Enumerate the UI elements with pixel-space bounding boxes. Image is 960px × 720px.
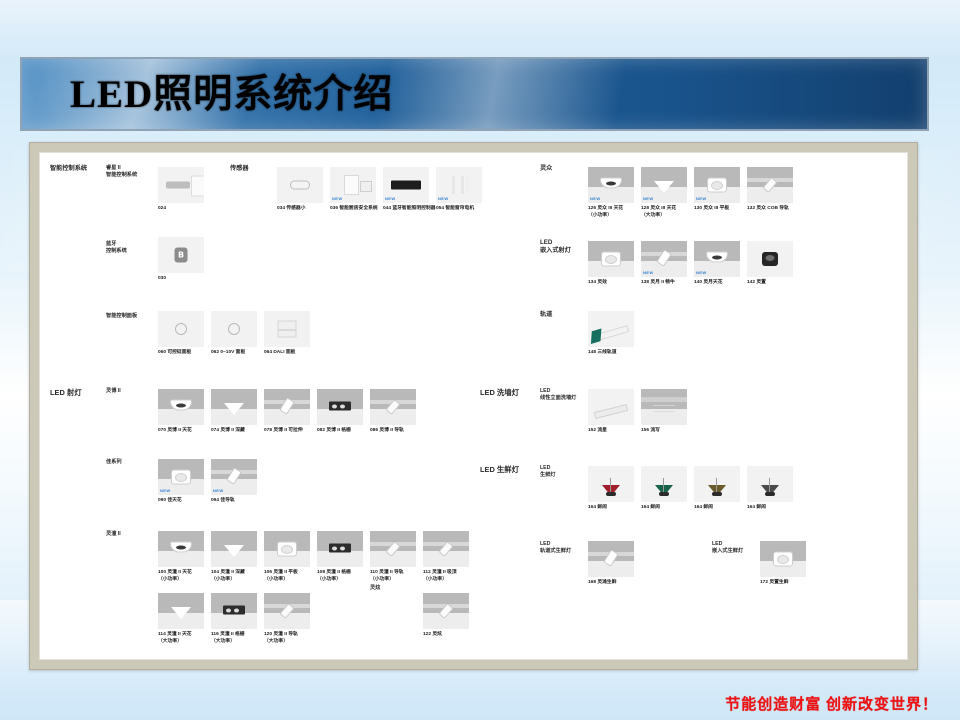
product-thumbnail <box>588 466 634 502</box>
product-label: 114 灵潼 II 天花 （大功率） <box>158 632 204 646</box>
new-badge: NEW <box>696 270 707 275</box>
product-thumbnail <box>423 593 469 629</box>
thumbnail-floor <box>158 551 204 567</box>
ringdown-icon <box>707 178 727 193</box>
product-card[interactable]: 078 灵博 II 可拉伸 <box>264 389 310 435</box>
darkdown-icon <box>762 252 778 266</box>
product-label: 140 灵月天花 <box>694 280 740 287</box>
product-label: 152 流星 <box>588 428 634 435</box>
product-card[interactable]: 164 鲜阅 <box>641 466 687 512</box>
product-card[interactable]: 024 <box>158 167 204 213</box>
kitchen-icon <box>344 175 359 195</box>
product-thumbnail <box>211 311 257 347</box>
product-label: 128 灵众 III 天花 （大功率） <box>641 206 687 220</box>
product-label: 108 灵潼 II 格栅 （小功率） <box>317 570 363 584</box>
group-subtitle: 蓝牙 控制系统 <box>106 241 127 256</box>
knob-icon <box>228 323 240 335</box>
product-thumbnail: NEW <box>588 167 634 203</box>
product-card[interactable]: 086 灵博 II 导轨 <box>370 389 416 435</box>
category-title: 传感器 <box>230 165 249 173</box>
product-label: 070 灵博 II 天花 <box>158 428 204 435</box>
product-thumbnail <box>158 531 204 567</box>
product-card[interactable]: 168 灵滩生鲜 <box>588 541 634 587</box>
product-label: 164 鲜阅 <box>747 505 793 512</box>
product-thumbnail: NEW <box>158 459 204 495</box>
product-card[interactable]: NEW140 灵月天花 <box>694 241 740 287</box>
gateway-icon <box>166 182 190 189</box>
product-label: 094 佳导轨 <box>211 498 257 505</box>
product-thumbnail: NEW <box>211 459 257 495</box>
group-subtitle: 佳系列 <box>106 459 122 466</box>
product-label: 062 0~10V 面板 <box>211 350 257 357</box>
product-label: 126 灵众 III 天花 （小功率） <box>588 206 634 220</box>
category-title: LED 生鲜灯 <box>480 465 519 475</box>
product-label: 034 传感器小 <box>277 206 323 213</box>
product-card[interactable]: 148 三线轨道 <box>588 311 634 357</box>
thumbnail-floor <box>158 409 204 425</box>
catalog-sheet: 智能控制系统睿星 II 智能控制系统024蓝牙 控制系统B030智能控制面板06… <box>39 152 908 660</box>
product-label: 122 灵炫 <box>423 632 469 639</box>
product-card[interactable]: NEW128 灵众 III 天花 （大功率） <box>641 167 687 220</box>
thumbnail-floor <box>211 613 257 629</box>
product-thumbnail <box>747 167 793 203</box>
product-card[interactable]: 082 灵博 II 格栅 <box>317 389 363 435</box>
group-subtitle: LED 生鲜灯 <box>540 465 556 480</box>
sensor-icon <box>290 181 310 190</box>
new-badge: NEW <box>160 488 171 493</box>
product-label: 172 灵置生鲜 <box>760 580 806 587</box>
product-label: 138 灵月 II 畅牛 <box>641 280 687 287</box>
product-label: 110 灵潼 II 导轨 （小功率） <box>370 570 416 584</box>
category-title: 灵众 <box>540 165 552 173</box>
product-card[interactable]: 172 灵置生鲜 <box>760 541 806 587</box>
product-card[interactable]: 100 灵潼 II 天花 （小功率） <box>158 531 204 584</box>
thumbnail-floor <box>641 409 687 425</box>
blackbox-icon <box>391 181 421 190</box>
product-label: 168 灵滩生鲜 <box>588 580 634 587</box>
page-title: LED照明系统介绍 <box>70 75 393 114</box>
trackrail-icon <box>593 325 630 342</box>
product-card[interactable]: B030 <box>158 237 204 283</box>
product-label: 120 灵潼 II 导轨 （大功率） <box>264 632 310 646</box>
product-card[interactable]: 164 鲜阅 <box>588 466 634 512</box>
product-thumbnail <box>588 541 634 577</box>
new-badge: NEW <box>643 270 654 275</box>
product-card[interactable]: 110 灵潼 II 导轨 （小功率） <box>370 531 416 584</box>
product-card[interactable]: 074 灵博 II 深藏 <box>211 389 257 435</box>
thumbnail-floor <box>317 551 363 567</box>
cone-icon <box>171 607 191 619</box>
pendant-cap-icon <box>765 492 775 496</box>
product-card[interactable]: 104 灵潼 II 深藏 （小功率） <box>211 531 257 584</box>
sky-streak-top <box>0 0 960 60</box>
ringdown-icon <box>171 470 191 485</box>
product-thumbnail <box>370 389 416 425</box>
product-card[interactable]: NEW138 灵月 II 畅牛 <box>641 241 687 287</box>
product-thumbnail <box>588 241 634 277</box>
product-label: 156 流写 <box>641 428 687 435</box>
product-card[interactable]: 064 DALI 面板 <box>264 311 310 357</box>
pendant-icon <box>708 485 726 496</box>
product-card[interactable]: 112 灵潼 II 吸顶 （小功率） <box>423 531 469 584</box>
product-card[interactable]: 142 灵置 <box>747 241 793 287</box>
product-thumbnail <box>264 389 310 425</box>
ringdown-icon <box>601 252 621 267</box>
product-label: 036 智能厨房安全系统 <box>330 206 378 213</box>
product-thumbnail <box>277 167 323 203</box>
new-badge: NEW <box>643 196 654 201</box>
catalog-frame: 智能控制系统睿星 II 智能控制系统024蓝牙 控制系统B030智能控制面板06… <box>29 142 918 670</box>
product-card[interactable]: 164 鲜阅 <box>694 466 740 512</box>
group-subtitle: LED 轨道式生鲜灯 <box>540 541 571 556</box>
product-card[interactable]: NEW036 智能厨房安全系统 <box>330 167 378 213</box>
product-label: 090 佳天花 <box>158 498 204 505</box>
new-badge: NEW <box>385 196 396 201</box>
product-thumbnail: NEW <box>694 167 740 203</box>
ringdown-icon <box>277 542 297 557</box>
product-label: 030 <box>158 276 204 283</box>
product-thumbnail <box>641 466 687 502</box>
product-label: 044 蓝牙智能照明控制器 <box>383 206 436 213</box>
product-card[interactable]: 156 流写 <box>641 389 687 435</box>
cone-icon <box>224 403 244 415</box>
product-thumbnail: B <box>158 237 204 273</box>
category-title: 轨道 <box>540 311 552 319</box>
thumbnail-floor <box>317 409 363 425</box>
recessline-icon <box>641 397 687 402</box>
pendant-cap-icon <box>659 492 669 496</box>
product-card[interactable]: 114 灵潼 II 天花 （大功率） <box>158 593 204 646</box>
product-thumbnail: NEW <box>383 167 429 203</box>
product-card[interactable]: 070 灵博 II 天花 <box>158 389 204 435</box>
product-label: 104 灵潼 II 深藏 （小功率） <box>211 570 257 584</box>
product-thumbnail <box>423 531 469 567</box>
knob-icon <box>175 323 187 335</box>
product-thumbnail <box>370 531 416 567</box>
product-label: 148 三线轨道 <box>588 350 634 357</box>
dali-icon <box>278 321 297 338</box>
product-label: 078 灵博 II 可拉伸 <box>264 428 310 435</box>
product-thumbnail <box>747 241 793 277</box>
product-card[interactable]: 122 灵炫 <box>423 593 469 639</box>
product-card[interactable]: 132 灵众 COB 导轨 <box>747 167 793 213</box>
product-card[interactable]: 106 灵潼 II 平板 （小功率） <box>264 531 310 584</box>
title-banner: LED照明系统介绍 <box>20 57 929 131</box>
new-badge: NEW <box>590 196 601 201</box>
product-thumbnail: NEW <box>436 167 482 203</box>
ringdown-icon <box>773 552 793 567</box>
product-thumbnail <box>588 389 634 425</box>
product-card[interactable]: NEW054 智能窗帘电机 <box>436 167 482 213</box>
product-thumbnail <box>760 541 806 577</box>
group-subtitle: 灵博 II <box>106 388 121 395</box>
grille-icon <box>223 605 245 614</box>
product-label: 024 <box>158 206 204 213</box>
bt-icon: B <box>175 248 188 263</box>
product-label: 106 灵潼 II 平板 （小功率） <box>264 570 310 584</box>
cone-icon <box>224 545 244 557</box>
product-label: 164 鲜阅 <box>641 505 687 512</box>
pendant-cap-icon <box>606 492 616 496</box>
product-label: 134 灵效 <box>588 280 634 287</box>
product-label: 064 DALI 面板 <box>264 350 310 357</box>
group-subtitle: 灵潼 II <box>106 531 121 538</box>
product-thumbnail <box>158 167 204 203</box>
product-card[interactable]: NEW126 灵众 III 天花 （小功率） <box>588 167 634 220</box>
grille-icon <box>329 543 351 552</box>
category-title: 智能控制系统 <box>50 165 87 173</box>
product-label: 112 灵潼 II 吸顶 （小功率） <box>423 570 469 584</box>
new-badge: NEW <box>696 196 707 201</box>
product-thumbnail <box>264 593 310 629</box>
product-thumbnail: NEW <box>694 241 740 277</box>
product-label: 132 灵众 COB 导轨 <box>747 206 793 213</box>
grille-icon <box>329 401 351 410</box>
group-subtitle: LED 嵌入式生鲜灯 <box>712 541 743 556</box>
product-label: 100 灵潼 II 天花 （小功率） <box>158 570 204 584</box>
new-badge: NEW <box>213 488 224 493</box>
group-subtitle: 灵炫 <box>370 585 380 592</box>
category-title: LED 射灯 <box>50 388 82 398</box>
product-label: 130 灵众 III 平板 <box>694 206 740 213</box>
pendant-icon <box>602 485 620 496</box>
product-card[interactable]: NEW090 佳天花 <box>158 459 204 505</box>
product-thumbnail <box>264 531 310 567</box>
product-label: 164 鲜阅 <box>588 505 634 512</box>
product-card[interactable]: NEW044 蓝牙智能照明控制器 <box>383 167 436 213</box>
cone-icon <box>654 181 674 193</box>
product-thumbnail: NEW <box>641 167 687 203</box>
product-label: 142 灵置 <box>747 280 793 287</box>
group-subtitle: LED 线性立面洗墙灯 <box>540 388 576 403</box>
category-title: LED 嵌入式射灯 <box>540 239 571 256</box>
product-card[interactable]: 116 灵潼 II 格栅 （大功率） <box>211 593 257 646</box>
product-thumbnail <box>158 389 204 425</box>
product-card[interactable]: NEW094 佳导轨 <box>211 459 257 505</box>
product-card[interactable]: 062 0~10V 面板 <box>211 311 257 357</box>
product-thumbnail <box>317 389 363 425</box>
product-label: 164 鲜阅 <box>694 505 740 512</box>
product-thumbnail <box>158 593 204 629</box>
group-subtitle: 智能控制面板 <box>106 313 137 320</box>
product-thumbnail <box>158 311 204 347</box>
product-thumbnail: NEW <box>641 241 687 277</box>
product-card[interactable]: NEW130 灵众 III 平板 <box>694 167 740 213</box>
product-thumbnail <box>211 389 257 425</box>
pendant-icon <box>655 485 673 496</box>
category-title: LED 洗墙灯 <box>480 388 519 398</box>
product-thumbnail: NEW <box>330 167 376 203</box>
product-card[interactable]: 108 灵潼 II 格栅 （小功率） <box>317 531 363 584</box>
product-thumbnail <box>588 311 634 347</box>
pendant-cap-icon <box>712 492 722 496</box>
product-thumbnail <box>211 593 257 629</box>
product-label: 116 灵潼 II 格栅 （大功率） <box>211 632 257 646</box>
product-label: 060 可控硅面板 <box>158 350 204 357</box>
product-card[interactable]: 060 可控硅面板 <box>158 311 204 357</box>
wallwash-icon <box>594 404 629 419</box>
product-card[interactable]: 164 鲜阅 <box>747 466 793 512</box>
group-subtitle: 睿星 II 智能控制系统 <box>106 165 137 180</box>
product-thumbnail <box>641 389 687 425</box>
product-card[interactable]: 134 灵效 <box>588 241 634 287</box>
product-card[interactable]: 152 流星 <box>588 389 634 435</box>
product-card[interactable]: 120 灵潼 II 导轨 （大功率） <box>264 593 310 646</box>
product-thumbnail <box>264 311 310 347</box>
product-thumbnail <box>317 531 363 567</box>
product-thumbnail <box>211 531 257 567</box>
product-label: 074 灵博 II 深藏 <box>211 428 257 435</box>
product-label: 086 灵博 II 导轨 <box>370 428 416 435</box>
pendant-icon <box>761 485 779 496</box>
curtain-icon <box>452 176 455 194</box>
product-label: 054 智能窗帘电机 <box>436 206 482 213</box>
product-card[interactable]: 034 传感器小 <box>277 167 323 213</box>
product-thumbnail <box>747 466 793 502</box>
new-badge: NEW <box>438 196 449 201</box>
slogan-text: 节能创造财富 创新改变世界！ <box>725 693 938 714</box>
product-thumbnail <box>694 466 740 502</box>
product-label: 082 灵博 II 格栅 <box>317 428 363 435</box>
new-badge: NEW <box>332 196 343 201</box>
